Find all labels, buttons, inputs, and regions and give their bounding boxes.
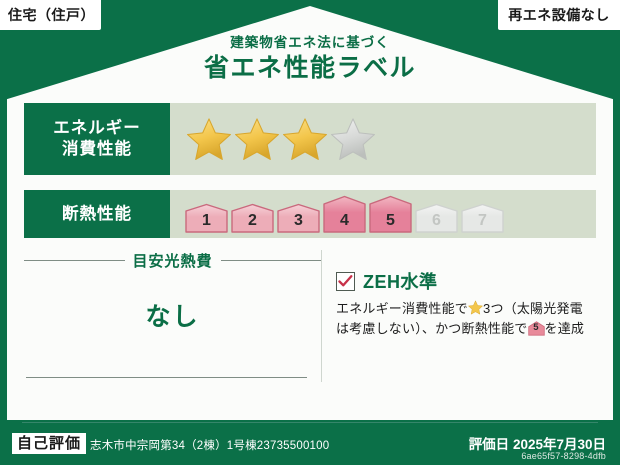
insulation-level-house: 5 — [368, 195, 413, 233]
badge-building-type-text: 住宅（住戸） — [8, 5, 93, 25]
energy-cost-heading: 目安光熱費 — [24, 250, 321, 271]
insulation-level-value: 2 — [230, 212, 275, 230]
insulation-level-value: 1 — [184, 212, 229, 230]
zeh-heading: ZEH水準 — [336, 268, 592, 294]
zeh-panel: ZEH水準 エネルギー消費性能で 3つ（太陽光発電 は考慮しない）、かつ断熱性能… — [322, 248, 596, 400]
energy-cost-panel: 目安光熱費 なし — [24, 248, 321, 400]
heading-rule-left — [24, 260, 125, 261]
insulation-performance-row: 断熱性能 1234567 — [24, 190, 596, 238]
insulation-level-value: 5 — [368, 212, 413, 230]
zeh-description: エネルギー消費性能で 3つ（太陽光発電 は考慮しない）、かつ断熱性能で 5を達成 — [336, 299, 592, 339]
star-icon — [282, 117, 328, 161]
zeh-title: ZEH水準 — [363, 268, 438, 294]
insulation-level-value: 6 — [414, 212, 459, 230]
energy-cost-value: なし — [24, 297, 321, 333]
insulation-level-value: 7 — [460, 212, 505, 230]
insulation-level-house: 1 — [184, 203, 229, 233]
star-icon — [186, 117, 232, 161]
insulation-level-value: 3 — [276, 212, 321, 230]
footer-evaluation-date: 評価日 2025年7月30日 — [469, 433, 606, 453]
house-level-icon-value: 5 — [528, 321, 545, 336]
self-evaluation-badge: 自己評価 — [12, 433, 86, 454]
title-subtitle: 建築物省エネ法に基づく — [0, 36, 620, 51]
footer-rule — [22, 422, 598, 423]
footer-address: 志木市中宗岡第34（2棟）1号棟23735500100 — [90, 437, 329, 453]
insulation-level-house: 4 — [322, 195, 367, 233]
label-footer: 自己評価 志木市中宗岡第34（2棟）1号棟23735500100 評価日 202… — [0, 420, 620, 465]
badge-renewable-equipment: 再エネ設備なし — [498, 0, 620, 30]
badge-building-type: 住宅（住戸） — [0, 0, 101, 30]
footer-label-id: 6ae65f57-8298-4dfb — [521, 451, 606, 461]
zeh-desc-part2: は考慮しない）、かつ断熱性能で — [336, 321, 528, 336]
star-icon — [234, 117, 280, 161]
energy-label-line1: エネルギー — [53, 118, 141, 139]
zeh-desc-starcount: 3つ（太陽光発電 — [483, 301, 583, 316]
energy-cost-underline — [26, 377, 307, 378]
house-level-icon: 5 — [528, 321, 545, 336]
energy-performance-label: 住宅（住戸） 再エネ設備なし 建築物省エネ法に基づく 省エネ性能ラベル エネルギ… — [0, 0, 620, 465]
energy-cost-heading-text: 目安光熱費 — [133, 250, 213, 271]
energy-label-line2: 消費性能 — [62, 139, 132, 160]
insulation-label-text: 断熱性能 — [62, 204, 132, 225]
badge-renewable-equipment-text: 再エネ設備なし — [508, 5, 610, 25]
lower-section: 目安光熱費 なし ZEH水準 エネルギー消費性能で 3つ（太 — [24, 248, 596, 400]
heading-rule-right — [221, 260, 322, 261]
insulation-level-house: 2 — [230, 203, 275, 233]
insulation-level-house: 6 — [414, 203, 459, 233]
insulation-performance-label: 断熱性能 — [24, 190, 170, 238]
insulation-level-house: 3 — [276, 203, 321, 233]
star-empty-icon — [330, 117, 376, 161]
insulation-level-house: 7 — [460, 203, 505, 233]
insulation-performance-levels: 1234567 — [170, 190, 596, 238]
page-title: 建築物省エネ法に基づく 省エネ性能ラベル — [0, 36, 620, 84]
title-main: 省エネ性能ラベル — [0, 53, 620, 84]
check-icon — [336, 272, 355, 291]
star-icon — [468, 300, 483, 315]
insulation-level-value: 4 — [322, 212, 367, 230]
zeh-desc-part1: エネルギー消費性能で — [336, 301, 468, 316]
zeh-desc-part3: を達成 — [545, 321, 585, 336]
energy-performance-row: エネルギー 消費性能 — [24, 103, 596, 175]
energy-performance-stars — [170, 103, 596, 175]
energy-performance-label: エネルギー 消費性能 — [24, 103, 170, 175]
